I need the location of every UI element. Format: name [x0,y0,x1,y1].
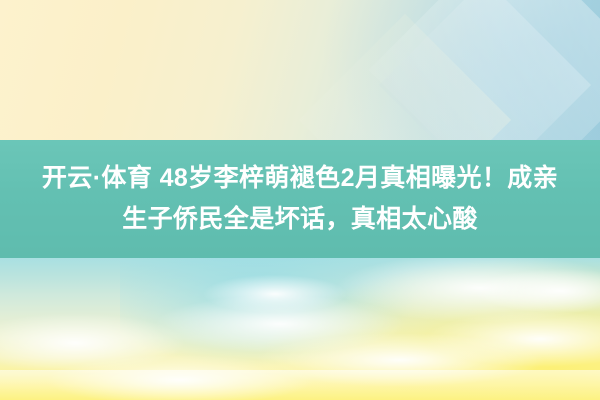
caption-line-2: 生子侨民全是坏话，真相太心酸 [122,199,478,240]
sky-yellow-tint [260,258,600,400]
caption-band: 开云·体育 48岁李梓萌褪色2月真相曝光！成亲 生子侨民全是坏话，真相太心酸 [0,140,600,258]
upper-background [0,0,600,142]
thumbnail-banner: 开云·体育 48岁李梓萌褪色2月真相曝光！成亲 生子侨民全是坏话，真相太心酸 [0,0,600,400]
lower-background-sky [0,258,600,400]
caption-line-1: 开云·体育 48岁李梓萌褪色2月真相曝光！成亲 [42,158,558,199]
